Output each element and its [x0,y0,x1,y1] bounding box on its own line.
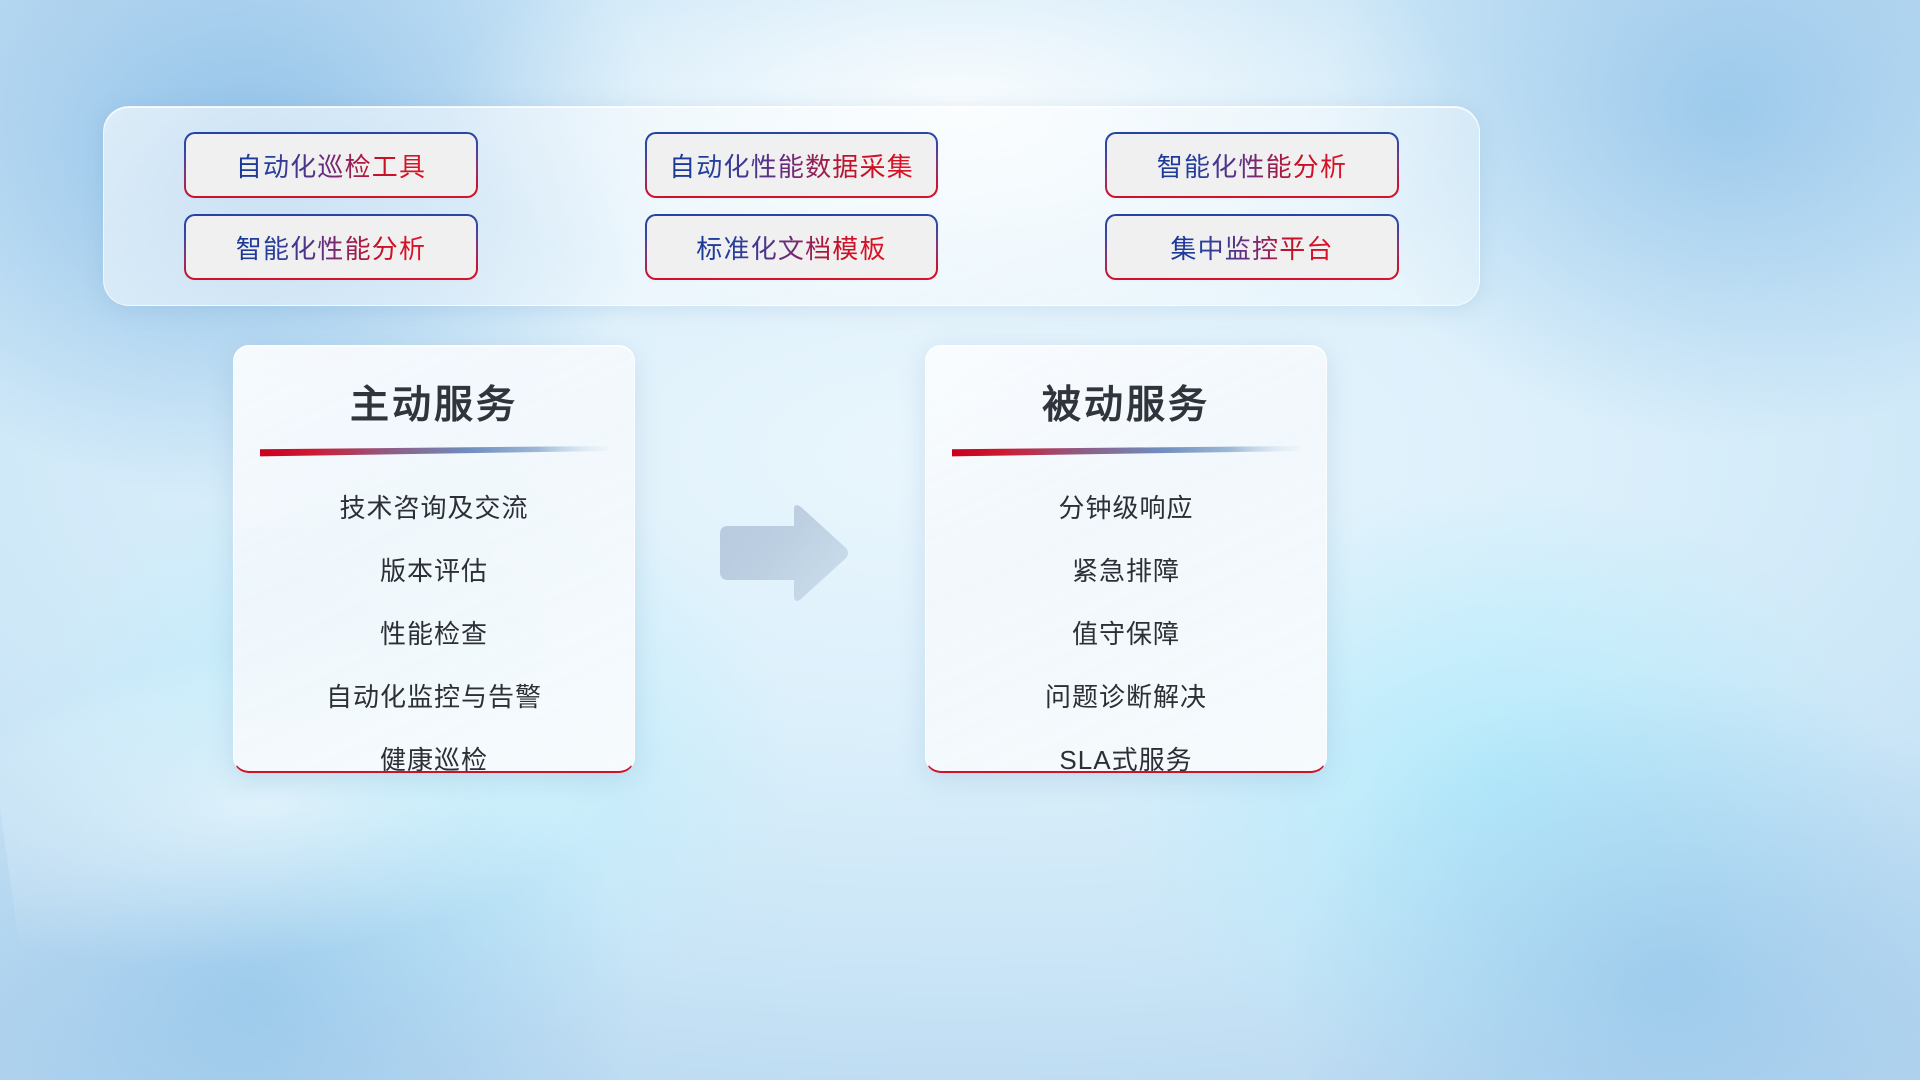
capability-row-2: 智能化性能分析 标准化文档模板 集中监控平台 [186,216,1397,278]
list-item: 技术咨询及交流 [339,488,528,525]
card-title: 被动服务 [1042,374,1210,430]
right-arrow-icon [712,500,852,610]
list-item: 值守保障 [1072,614,1180,651]
list-item: 健康巡检 [380,740,488,777]
capability-pill-intelligent-perf-analysis-top[interactable]: 智能化性能分析 [1107,134,1397,196]
list-item: SLA式服务 [1059,740,1192,777]
capability-pill-label: 标准化文档模板 [696,229,886,266]
card-item-list: 分钟级响应 紧急排障 值守保障 问题诊断解决 SLA式服务 [926,488,1326,777]
capability-pill-label: 自动化巡检工具 [236,147,426,184]
service-card-proactive: 主动服务 技术咨询及交流 版本评估 性能检查 自动化监控与告警 健康巡检 [233,345,635,773]
list-item: 版本评估 [380,551,488,588]
capability-pill-auto-inspection-tool[interactable]: 自动化巡检工具 [186,134,476,196]
capability-pill-label: 智能化性能分析 [236,229,426,266]
capability-pill-centralized-monitoring-platform[interactable]: 集中监控平台 [1107,216,1397,278]
card-divider [260,446,608,458]
capability-row-1: 自动化巡检工具 自动化性能数据采集 智能化性能分析 [186,134,1397,196]
capability-pill-intelligent-perf-analysis-bottom[interactable]: 智能化性能分析 [186,216,476,278]
capability-pill-label: 集中监控平台 [1170,229,1333,266]
capability-pill-standard-doc-template[interactable]: 标准化文档模板 [647,216,937,278]
card-item-list: 技术咨询及交流 版本评估 性能检查 自动化监控与告警 健康巡检 [234,488,634,777]
list-item: 问题诊断解决 [1045,677,1207,714]
capability-pill-label: 智能化性能分析 [1157,147,1347,184]
capability-pill-auto-perf-data-collection[interactable]: 自动化性能数据采集 [647,134,937,196]
list-item: 紧急排障 [1072,551,1180,588]
list-item: 自动化监控与告警 [326,677,542,714]
list-item: 分钟级响应 [1058,488,1193,525]
capability-panel: 自动化巡检工具 自动化性能数据采集 智能化性能分析 智能化性能分析 标准化文档模… [103,106,1480,306]
card-title: 主动服务 [350,374,518,430]
service-card-reactive: 被动服务 分钟级响应 紧急排障 值守保障 问题诊断解决 SLA式服务 [925,345,1327,773]
capability-pill-label: 自动化性能数据采集 [669,147,914,184]
card-divider [952,446,1300,458]
list-item: 性能检查 [380,614,488,651]
